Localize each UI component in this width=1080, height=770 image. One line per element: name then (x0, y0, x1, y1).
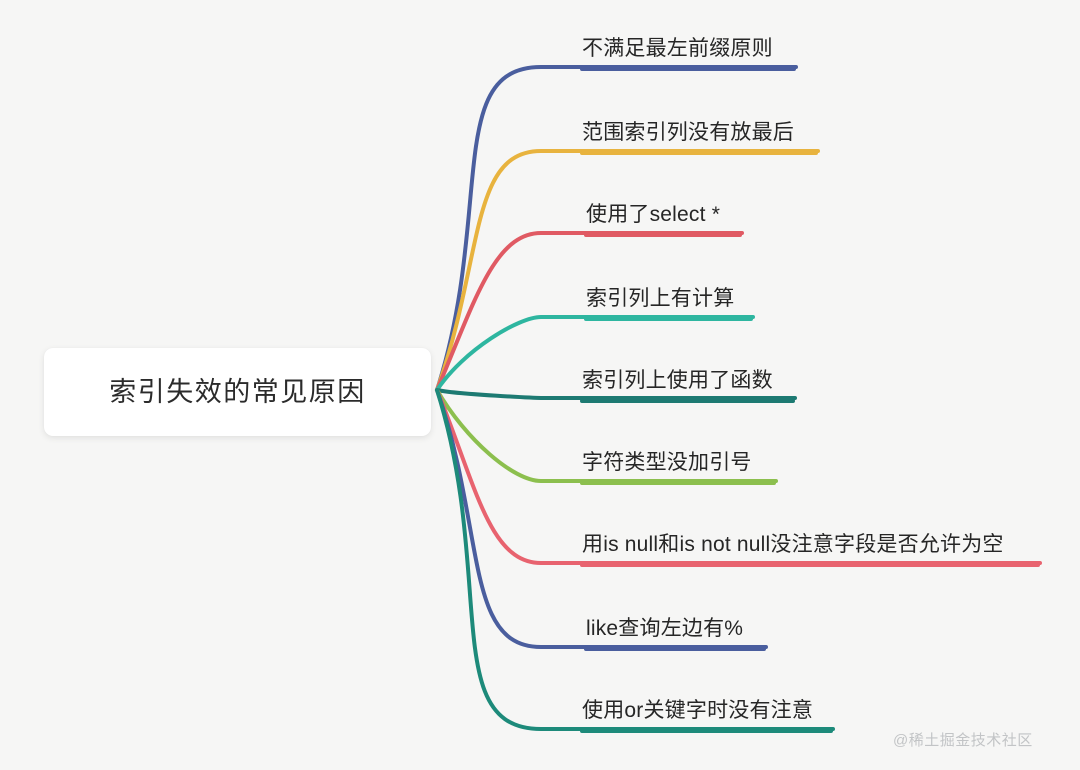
mindmap-canvas: 索引失效的常见原因 不满足最左前缀原则范围索引列没有放最后使用了select *… (0, 0, 1080, 770)
branch-node-is-null-nullable[interactable]: 用is null和is not null没注意字段是否允许为空 (580, 532, 1040, 567)
branch-node-range-column-not-last[interactable]: 范围索引列没有放最后 (580, 120, 818, 155)
branch-underline-function-on-index (580, 399, 795, 403)
branch-label-string-without-quotes: 字符类型没加引号 (580, 450, 776, 481)
branch-underline-select-star (584, 233, 742, 237)
branch-underline-or-keyword (580, 729, 833, 733)
branch-underline-is-null-nullable (580, 563, 1040, 567)
branch-label-range-column-not-last: 范围索引列没有放最后 (580, 120, 818, 151)
branch-label-computation-on-index: 索引列上有计算 (584, 286, 753, 317)
branch-label-function-on-index: 索引列上使用了函数 (580, 368, 795, 399)
root-node-label: 索引失效的常见原因 (109, 376, 366, 408)
branch-underline-range-column-not-last (580, 151, 818, 155)
branch-node-or-keyword[interactable]: 使用or关键字时没有注意 (580, 698, 833, 733)
branch-label-is-null-nullable: 用is null和is not null没注意字段是否允许为空 (580, 532, 1040, 563)
branch-underline-computation-on-index (584, 317, 753, 321)
branch-node-like-leading-wildcard[interactable]: like查询左边有% (584, 616, 766, 651)
branch-node-leftmost-prefix[interactable]: 不满足最左前缀原则 (580, 36, 796, 71)
branch-curve-range-column-not-last (437, 151, 818, 390)
branch-label-select-star: 使用了select * (584, 202, 742, 233)
branch-curve-like-leading-wildcard (437, 390, 766, 647)
branch-node-computation-on-index[interactable]: 索引列上有计算 (584, 286, 753, 321)
branch-label-leftmost-prefix: 不满足最左前缀原则 (580, 36, 796, 67)
branch-node-select-star[interactable]: 使用了select * (584, 202, 742, 237)
branch-node-string-without-quotes[interactable]: 字符类型没加引号 (580, 450, 776, 485)
branch-label-like-leading-wildcard: like查询左边有% (584, 616, 766, 647)
branch-label-or-keyword: 使用or关键字时没有注意 (580, 698, 833, 729)
branch-underline-string-without-quotes (580, 481, 776, 485)
watermark: @稀土掘金技术社区 (893, 729, 1033, 750)
branch-node-function-on-index[interactable]: 索引列上使用了函数 (580, 368, 795, 403)
branch-underline-like-leading-wildcard (584, 647, 766, 651)
branch-underline-leftmost-prefix (580, 67, 796, 71)
root-node[interactable]: 索引失效的常见原因 (44, 348, 431, 436)
